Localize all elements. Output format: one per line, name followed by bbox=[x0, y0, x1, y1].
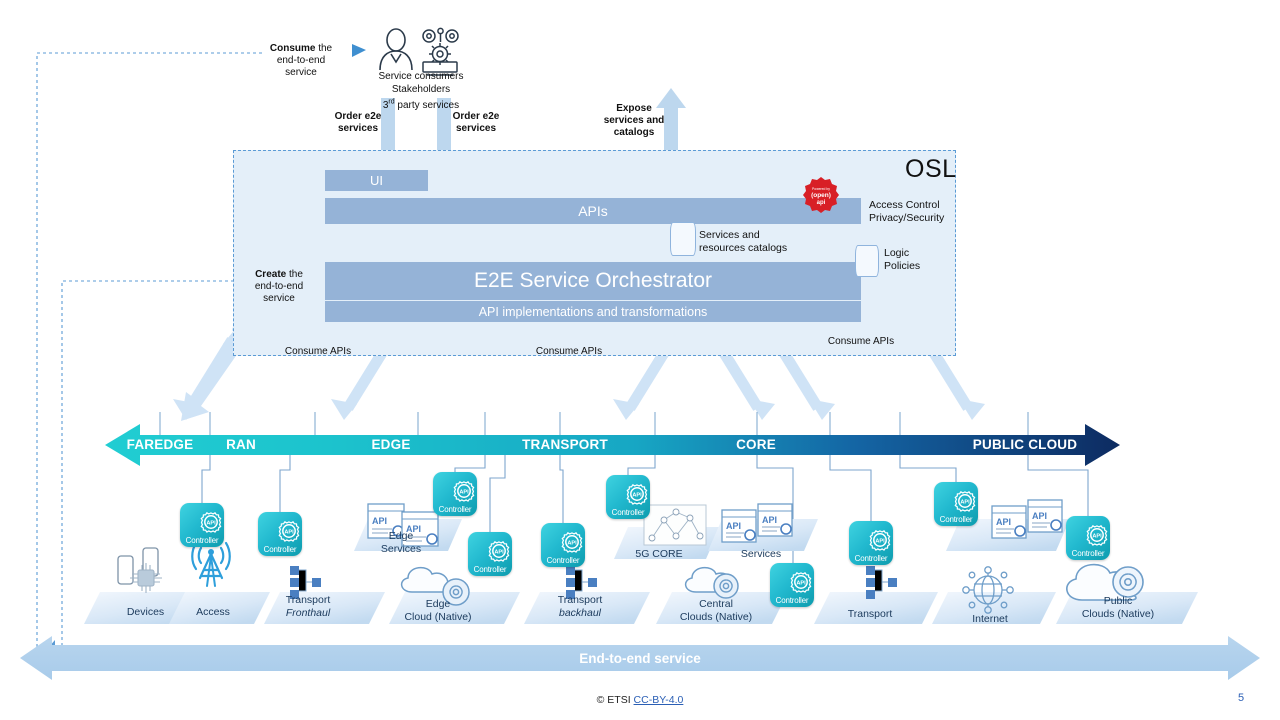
actors-line3: 3rd party services bbox=[383, 100, 459, 111]
access-control-caption: Access Control Privacy/Security bbox=[869, 199, 964, 225]
svg-text:API: API bbox=[726, 521, 741, 531]
domain-label-faredge[interactable]: FAREDGE bbox=[122, 437, 198, 452]
actors-ordinal: rd bbox=[388, 99, 394, 106]
platform-label-line1: Transport bbox=[558, 594, 603, 606]
apis-block[interactable]: APIs bbox=[325, 198, 861, 224]
svg-text:API: API bbox=[206, 521, 216, 527]
create-line2: end-to-end bbox=[255, 281, 303, 292]
logic-policies-cylinder bbox=[855, 245, 879, 277]
page-number: 5 bbox=[1238, 692, 1244, 704]
platform-label-line1: Devices bbox=[127, 606, 164, 618]
platform-label-line2: Clouds (Native) bbox=[680, 611, 752, 623]
order-right-line2: services bbox=[456, 123, 496, 134]
order-left-line2: services bbox=[338, 123, 378, 134]
create-e2e-service-label: Create the end-to-end service bbox=[233, 269, 325, 305]
platform-label-line1: Transport bbox=[286, 594, 331, 606]
svg-text:API: API bbox=[960, 500, 970, 506]
seal-line2: (open) bbox=[811, 192, 831, 199]
service-consumer-icon bbox=[380, 29, 412, 70]
platform-label-line2: Services bbox=[381, 543, 421, 555]
consume-apis-label-2: Consume APIs bbox=[526, 346, 612, 358]
expose-line3: catalogs bbox=[614, 127, 655, 138]
platform-label-public-clouds: PublicClouds (Native) bbox=[1058, 595, 1178, 620]
footer-license-link[interactable]: CC-BY-4.0 bbox=[634, 694, 684, 706]
platform-label-5g-core: 5G CORE bbox=[612, 548, 706, 561]
svg-text:API: API bbox=[1092, 534, 1102, 540]
controller-public-clouds[interactable]: API Controller bbox=[1066, 516, 1110, 560]
svg-text:API: API bbox=[996, 517, 1011, 527]
platform-label-edge-services: EdgeServices bbox=[360, 530, 442, 555]
svg-text:API: API bbox=[494, 550, 504, 556]
platform-label-internet: Internet bbox=[940, 613, 1040, 626]
platform-label-line2: backhaul bbox=[559, 607, 601, 619]
services-catalog-cylinder bbox=[670, 222, 696, 256]
order-e2e-left-label: Order e2e services bbox=[320, 111, 396, 135]
seal-line1: Powered by bbox=[812, 187, 830, 191]
domain-label-transport[interactable]: TRANSPORT bbox=[504, 437, 626, 452]
svg-text:API: API bbox=[567, 541, 577, 547]
platform-label-line1: Access bbox=[196, 606, 230, 618]
consume-apis-label-3: Consume APIs bbox=[818, 336, 904, 348]
create-line3: service bbox=[263, 293, 295, 304]
platform-label-line1: Services bbox=[741, 548, 781, 560]
controller-label: Controller bbox=[934, 515, 978, 524]
logic-line2: Policies bbox=[884, 260, 920, 272]
api-implementations-block[interactable]: API implementations and transformations bbox=[325, 301, 861, 322]
catalog-line1: Services and bbox=[699, 229, 760, 241]
platform-label-line1: Internet bbox=[972, 613, 1008, 625]
expose-line2: services and bbox=[604, 115, 665, 126]
platform-label-central-clouds: CentralClouds (Native) bbox=[658, 598, 774, 623]
controller-transport-bh[interactable]: API Controller bbox=[541, 523, 585, 567]
actors-caption: Service consumers Stakeholders 3rd party… bbox=[358, 70, 484, 112]
controller-edge[interactable]: API Controller bbox=[433, 472, 477, 516]
platform-label-transport-bh: Transportbackhaul bbox=[524, 594, 636, 619]
platform-label-access: Access bbox=[172, 606, 254, 619]
svg-text:API: API bbox=[1032, 511, 1047, 521]
logic-policies-caption: Logic Policies bbox=[884, 247, 954, 273]
create-bold: Create bbox=[255, 269, 286, 280]
controller-edge-cloud[interactable]: API Controller bbox=[468, 532, 512, 576]
controller-label: Controller bbox=[770, 596, 814, 605]
platform-label-core-services: Services bbox=[716, 548, 806, 561]
controller-label: Controller bbox=[433, 505, 477, 514]
footer-copyright: © ETSI bbox=[597, 694, 634, 706]
controller-core-transport[interactable]: API Controller bbox=[849, 521, 893, 565]
svg-text:API: API bbox=[459, 490, 469, 496]
order-e2e-right-label: Order e2e services bbox=[438, 111, 514, 135]
footer: © ETSI CC-BY-4.0 bbox=[0, 694, 1280, 706]
ui-block[interactable]: UI bbox=[325, 170, 428, 191]
domain-label-public-cloud[interactable]: PUBLIC CLOUD bbox=[955, 437, 1095, 452]
consume-arrowhead bbox=[352, 44, 366, 57]
controller-label: Controller bbox=[468, 565, 512, 574]
controller-label: Controller bbox=[849, 554, 893, 563]
openapi-seal-badge: Powered by (open) api bbox=[802, 176, 840, 214]
actors-line2: Stakeholders bbox=[392, 84, 450, 95]
consume-apis-label-1: Consume APIs bbox=[275, 346, 361, 358]
actors-line1: Service consumers bbox=[378, 71, 463, 82]
order-right-line1: Order e2e bbox=[453, 111, 500, 122]
domain-label-ran[interactable]: RAN bbox=[205, 437, 277, 452]
expose-label: Expose services and catalogs bbox=[588, 103, 680, 139]
access-tower-icon bbox=[192, 543, 230, 586]
osl-title: OSL bbox=[905, 155, 957, 184]
consume-line2: end-to-end bbox=[277, 55, 325, 66]
platform-label-transport-fh: TransportFronthaul bbox=[252, 594, 364, 619]
controller-label: Controller bbox=[258, 545, 302, 554]
consume-rest: the bbox=[315, 43, 332, 54]
expose-line1: Expose bbox=[616, 103, 652, 114]
svg-text:API: API bbox=[632, 493, 642, 499]
create-rest: the bbox=[286, 269, 303, 280]
platform-label-edge-cloud: EdgeCloud (Native) bbox=[380, 598, 496, 623]
platform-label-line2: Cloud (Native) bbox=[404, 611, 471, 623]
platform-label-line2: Fronthaul bbox=[286, 607, 330, 619]
platform-label-line1: Central bbox=[699, 598, 733, 610]
domain-label-edge[interactable]: EDGE bbox=[348, 437, 434, 452]
controller-transport-fh[interactable]: API Controller bbox=[258, 512, 302, 556]
controller-5g-core[interactable]: API Controller bbox=[606, 475, 650, 519]
platform-label-line1: Transport bbox=[848, 608, 893, 620]
svg-text:API: API bbox=[284, 530, 294, 536]
svg-text:API: API bbox=[762, 515, 777, 525]
seal-line3: api bbox=[817, 200, 826, 206]
consume-e2e-service-label: Consume the end-to-end service bbox=[253, 43, 349, 79]
services-catalog-caption: Services and resources catalogs bbox=[699, 229, 809, 255]
svg-text:API: API bbox=[372, 516, 387, 526]
order-left-line1: Order e2e bbox=[335, 111, 382, 122]
consume-line3: service bbox=[285, 67, 317, 78]
catalog-line2: resources catalogs bbox=[699, 242, 787, 254]
platform-label-line1: 5G CORE bbox=[635, 548, 682, 560]
controller-label: Controller bbox=[606, 508, 650, 517]
platform-label-line1: Edge bbox=[426, 598, 451, 610]
svg-text:API: API bbox=[796, 581, 806, 587]
platform-label-line2: Clouds (Native) bbox=[1082, 608, 1154, 620]
controller-label: Controller bbox=[1066, 549, 1110, 558]
e2e-service-orchestrator-block[interactable]: E2E Service Orchestrator bbox=[325, 262, 861, 300]
platform-label-core-transport: Transport bbox=[820, 608, 920, 621]
controller-public-services[interactable]: API Controller bbox=[934, 482, 978, 526]
controller-label: Controller bbox=[541, 556, 585, 565]
access-line1: Access Control bbox=[869, 199, 940, 211]
platform-label-line1: Public bbox=[1104, 595, 1133, 607]
domain-label-core[interactable]: CORE bbox=[712, 437, 800, 452]
controller-central-clouds[interactable]: API Controller bbox=[770, 563, 814, 607]
svg-text:API: API bbox=[875, 539, 885, 545]
end-to-end-service-label: End-to-end service bbox=[0, 651, 1280, 666]
controller-ran[interactable]: API Controller bbox=[180, 503, 224, 547]
consume-bold: Consume bbox=[270, 43, 316, 54]
5g-core-topology-icon bbox=[644, 505, 706, 545]
stakeholders-gear-icon bbox=[423, 28, 458, 75]
access-line2: Privacy/Security bbox=[869, 212, 944, 224]
controller-label: Controller bbox=[180, 536, 224, 545]
platform-label-line1: Edge bbox=[389, 530, 414, 542]
logic-line1: Logic bbox=[884, 247, 909, 259]
